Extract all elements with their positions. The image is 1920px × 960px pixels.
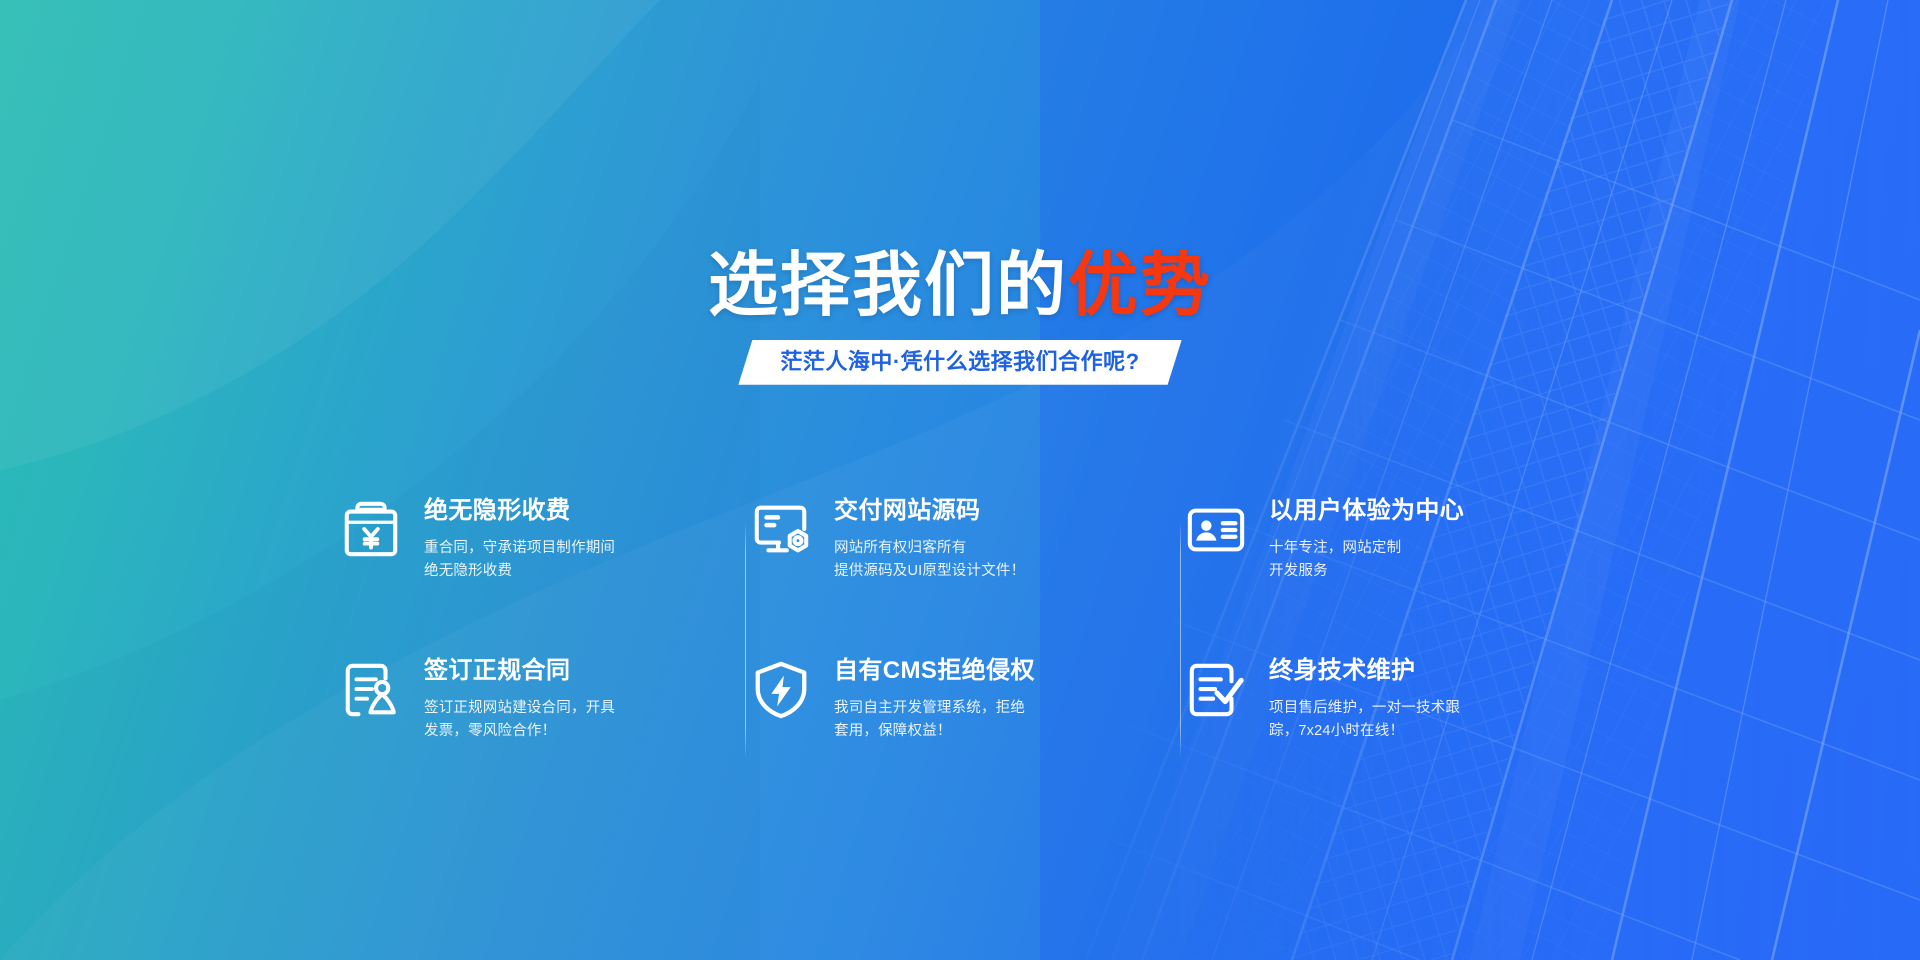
column-divider xyxy=(1180,524,1181,756)
feature-desc-line: 套用，保障权益！ xyxy=(834,720,1035,743)
column-divider xyxy=(745,524,746,756)
feature-item: 绝无隐形收费 重合同，守承诺项目制作期间 绝无隐形收费 xyxy=(340,495,740,625)
feature-desc-line: 绝无隐形收费 xyxy=(424,560,615,583)
feature-title: 自有CMS拒绝侵权 xyxy=(834,657,1035,686)
feature-description: 重合同，守承诺项目制作期间 绝无隐形收费 xyxy=(424,537,615,584)
feature-desc-line: 提供源码及UI原型设计文件！ xyxy=(834,560,1025,583)
feature-item: 签订正规合同 签订正规网站建设合同，开具 发票，零风险合作！ xyxy=(340,655,740,785)
feature-desc-line: 开发服务 xyxy=(1269,560,1464,583)
checklist-check-icon xyxy=(1185,659,1247,721)
feature-text: 终身技术维护 项目售后维护，一对一技术跟 踪，7x24小时在线！ xyxy=(1269,655,1460,744)
document-person-icon xyxy=(340,659,402,721)
feature-item: 终身技术维护 项目售后维护，一对一技术跟 踪，7x24小时在线！ xyxy=(1185,655,1600,785)
feature-description: 我司自主开发管理系统，拒绝 套用，保障权益！ xyxy=(834,697,1035,744)
feature-title: 签订正规合同 xyxy=(424,657,615,686)
feature-item: 自有CMS拒绝侵权 我司自主开发管理系统，拒绝 套用，保障权益！ xyxy=(750,655,1175,785)
shield-bolt-icon xyxy=(750,659,812,721)
heading-block: 选择我们的优势 xyxy=(0,250,1920,320)
feature-title: 以用户体验为中心 xyxy=(1269,497,1464,526)
feature-item: 交付网站源码 网站所有权归客所有 提供源码及UI原型设计文件！ xyxy=(750,495,1175,625)
feature-text: 交付网站源码 网站所有权归客所有 提供源码及UI原型设计文件！ xyxy=(834,495,1025,584)
monitor-code-gear-icon xyxy=(750,499,812,561)
subtitle-ribbon-wrap: 茫茫人海中·凭什么选择我们合作呢? xyxy=(0,340,1920,385)
feature-text: 以用户体验为中心 十年专注，网站定制 开发服务 xyxy=(1269,495,1464,584)
feature-text: 签订正规合同 签订正规网站建设合同，开具 发票，零风险合作！ xyxy=(424,655,615,744)
feature-desc-line: 签订正规网站建设合同，开具 xyxy=(424,697,615,720)
feature-description: 项目售后维护，一对一技术跟 踪，7x24小时在线！ xyxy=(1269,697,1460,744)
feature-description: 网站所有权归客所有 提供源码及UI原型设计文件！ xyxy=(834,537,1025,584)
feature-title: 交付网站源码 xyxy=(834,497,1025,526)
subtitle-ribbon: 茫茫人海中·凭什么选择我们合作呢? xyxy=(738,340,1181,385)
feature-item: 以用户体验为中心 十年专注，网站定制 开发服务 xyxy=(1185,495,1600,625)
feature-description: 签订正规网站建设合同，开具 发票，零风险合作！ xyxy=(424,697,615,744)
feature-desc-line: 项目售后维护，一对一技术跟 xyxy=(1269,697,1460,720)
id-card-icon xyxy=(1185,499,1247,561)
title-accent-text: 优势 xyxy=(1068,246,1212,324)
page-title: 选择我们的优势 xyxy=(0,250,1920,320)
clipboard-yen-icon xyxy=(340,499,402,561)
feature-title: 终身技术维护 xyxy=(1269,657,1460,686)
feature-desc-line: 我司自主开发管理系统，拒绝 xyxy=(834,697,1035,720)
feature-desc-line: 重合同，守承诺项目制作期间 xyxy=(424,537,615,560)
feature-description: 十年专注，网站定制 开发服务 xyxy=(1269,537,1464,584)
advantages-banner: 选择我们的优势 茫茫人海中·凭什么选择我们合作呢? 绝无隐形收费 xyxy=(0,0,1920,960)
feature-text: 自有CMS拒绝侵权 我司自主开发管理系统，拒绝 套用，保障权益！ xyxy=(834,655,1035,744)
title-main-text: 选择我们的 xyxy=(708,246,1068,324)
feature-desc-line: 网站所有权归客所有 xyxy=(834,537,1025,560)
feature-desc-line: 十年专注，网站定制 xyxy=(1269,537,1464,560)
feature-text: 绝无隐形收费 重合同，守承诺项目制作期间 绝无隐形收费 xyxy=(424,495,615,584)
skyscraper-photo-backdrop xyxy=(0,0,1920,960)
feature-grid: 绝无隐形收费 重合同，守承诺项目制作期间 绝无隐形收费 签订正规合同 xyxy=(340,495,1600,765)
feature-title: 绝无隐形收费 xyxy=(424,497,615,526)
feature-desc-line: 发票，零风险合作！ xyxy=(424,720,615,743)
subtitle-text: 茫茫人海中·凭什么选择我们合作呢? xyxy=(780,347,1139,377)
feature-desc-line: 踪，7x24小时在线！ xyxy=(1269,720,1460,743)
